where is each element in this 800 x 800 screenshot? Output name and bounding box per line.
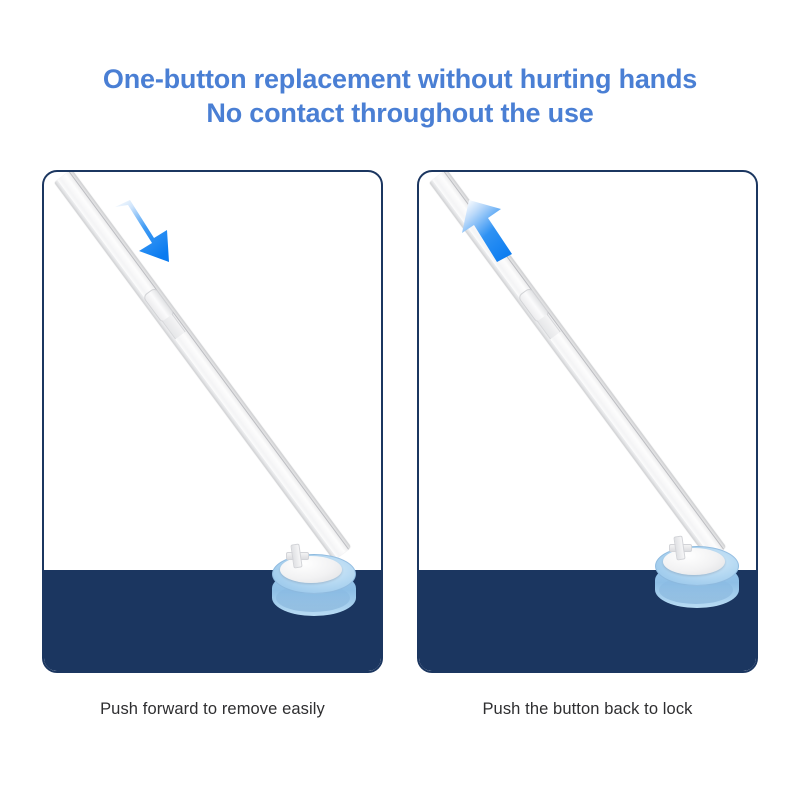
caption-remove: Push forward to remove easily — [40, 700, 385, 719]
mop-head-right — [649, 524, 745, 620]
page-title: One-button replacement without hurting h… — [0, 62, 800, 130]
page-title-line-1: One-button replacement without hurting h… — [0, 62, 800, 96]
mop-connector-plate-left — [280, 556, 342, 583]
release-button-tab-left — [162, 314, 186, 339]
panel-lock-scene — [419, 172, 756, 671]
mop-pole-left — [54, 172, 351, 560]
panel-captions: Push forward to remove easily Push the b… — [0, 700, 800, 730]
illustration-panels — [0, 170, 800, 675]
mop-latch-right — [673, 535, 685, 560]
panel-lock — [417, 170, 758, 673]
mop-latch-left — [290, 543, 302, 568]
arrow-down-right-icon — [106, 194, 182, 270]
caption-lock: Push the button back to lock — [415, 700, 760, 719]
mop-connector-plate-right — [663, 548, 725, 575]
release-button-tab-right — [537, 314, 561, 339]
panel-remove-scene — [44, 172, 381, 671]
mop-head-left — [266, 532, 362, 628]
panel-remove — [42, 170, 383, 673]
arrow-up-left-icon — [457, 192, 533, 268]
pole-highlight-left — [57, 178, 340, 558]
page-title-line-2: No contact throughout the use — [0, 96, 800, 130]
